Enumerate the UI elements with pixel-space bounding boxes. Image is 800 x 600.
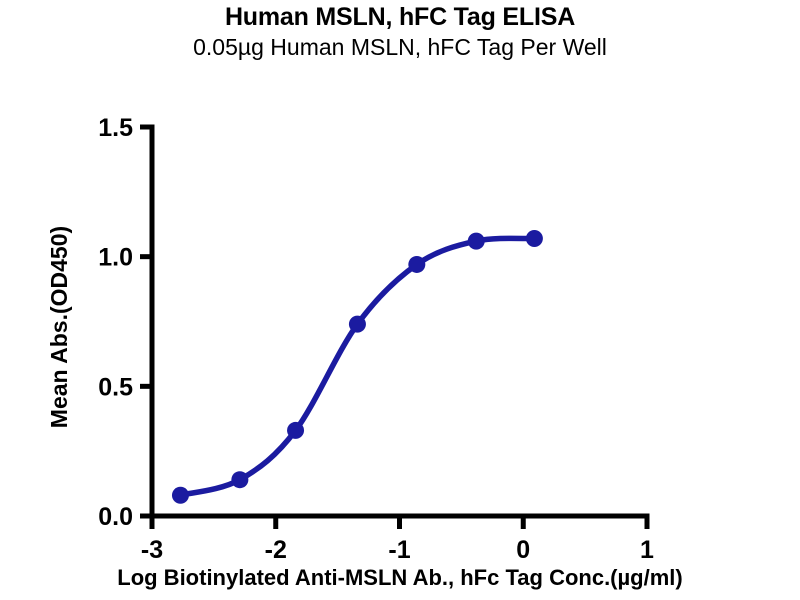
x-axis-tick-label: -2 (265, 536, 287, 564)
y-axis-tick-label: 0.5 (98, 373, 133, 401)
axis-layer (140, 127, 647, 529)
x-axis-tick-label: -3 (141, 536, 163, 564)
y-axis-tick-label: 1.5 (98, 114, 133, 142)
chart-figure: Human MSLN, hFC Tag ELISA 0.05µg Human M… (0, 0, 800, 600)
y-axis-tick-label: 0.0 (98, 503, 133, 531)
x-axis-tick-label: 0 (516, 536, 530, 564)
data-point-marker (231, 471, 248, 488)
x-axis-tick-label: 1 (640, 536, 654, 564)
plot-area: 0.00.51.01.5-3-2-101 (0, 0, 800, 600)
x-axis-tick-label: -1 (388, 536, 410, 564)
data-point-marker (287, 422, 304, 439)
data-point-marker (408, 256, 425, 273)
data-point-marker (526, 230, 543, 247)
series-line (180, 238, 534, 495)
data-point-marker (172, 487, 189, 504)
y-axis-tick-label: 1.0 (98, 244, 133, 272)
data-series-layer (172, 230, 543, 504)
data-point-marker (349, 316, 366, 333)
data-point-marker (468, 233, 485, 250)
